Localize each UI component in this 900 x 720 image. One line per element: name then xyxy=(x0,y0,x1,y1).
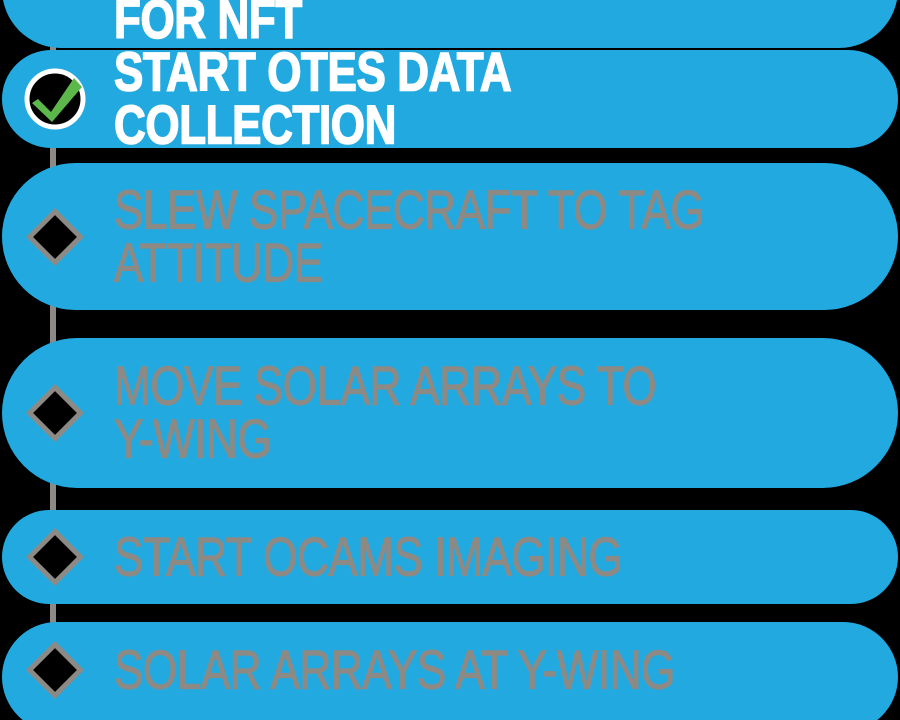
timeline-step-arrays-ywing-label: SOLAR ARRAYS AT Y-WING xyxy=(114,643,874,696)
diamond-icon[interactable] xyxy=(24,526,86,588)
timeline-step-otes-label: START OTES DATA COLLECTION xyxy=(114,46,874,153)
timeline-step-move-arrays-label: MOVE SOLAR ARRAYS TO Y-WING xyxy=(114,360,874,467)
timeline-step-ocams[interactable]: START OCAMS IMAGING xyxy=(2,510,898,604)
check-icon[interactable] xyxy=(24,68,86,130)
timeline-step-slew-label: SLEW SPACECRAFT TO TAG ATTITUDE xyxy=(114,183,874,290)
timeline-step-move-arrays[interactable]: MOVE SOLAR ARRAYS TO Y-WING xyxy=(2,338,898,488)
mission-timeline-panel: FOR NFT START OTES DATA COLLECTION SLEW … xyxy=(0,0,900,720)
timeline-step-otes[interactable]: START OTES DATA COLLECTION xyxy=(2,50,898,148)
diamond-icon[interactable] xyxy=(24,206,86,268)
timeline-step-arrays-ywing[interactable]: SOLAR ARRAYS AT Y-WING xyxy=(2,622,898,720)
timeline-step-nft-label: FOR NFT xyxy=(114,0,874,46)
timeline-step-ocams-label: START OCAMS IMAGING xyxy=(114,530,874,583)
diamond-icon[interactable] xyxy=(24,382,86,444)
timeline-step-slew[interactable]: SLEW SPACECRAFT TO TAG ATTITUDE xyxy=(2,163,898,310)
diamond-icon[interactable] xyxy=(24,639,86,701)
